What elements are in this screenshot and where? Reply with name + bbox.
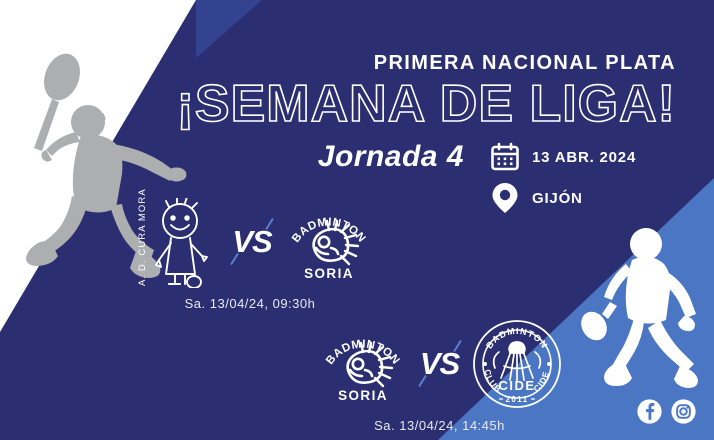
location-pin-icon	[490, 182, 520, 214]
match-2-teams: BADMINTON	[312, 318, 567, 410]
soria-wordmark: SORIA	[304, 266, 354, 281]
event-poster: PRIMERA NACIONAL PLATA ¡SEMANA DE LIGA! …	[0, 0, 714, 440]
calendar-icon	[490, 142, 520, 172]
event-location-row: GIJÓN	[490, 182, 583, 214]
facebook-icon[interactable]	[637, 399, 662, 424]
event-date-row: 13 ABR. 2024	[490, 142, 636, 172]
page-title: ¡SEMANA DE LIGA!	[0, 78, 676, 130]
event-city-text: GIJÓN	[532, 190, 583, 207]
matchday-label: Jornada 4	[0, 140, 464, 174]
badminton-soria-emblem-2: BADMINTON	[317, 324, 409, 404]
vs-separator-1: VS	[221, 214, 283, 270]
match-1-teams: A. D. CURA MORA	[125, 196, 375, 288]
vs-separator-2: VS	[409, 336, 471, 392]
match-2-time: Sa. 13/04/24, 14:45h	[312, 418, 567, 433]
cide-year-text: 2011	[505, 395, 528, 404]
instagram-icon[interactable]	[671, 399, 696, 424]
team-logo-cura-mora: A. D. CURA MORA	[125, 196, 221, 288]
event-date-text: 13 ABR. 2024	[532, 149, 636, 166]
team-logo-badminton-soria-2: BADMINTON	[317, 324, 409, 404]
cide-center-text: CIDE	[498, 378, 535, 393]
match-1-time: Sa. 13/04/24, 09:30h	[125, 296, 375, 311]
badminton-soria-emblem: BADMINTON	[283, 202, 375, 282]
badminton-player-lunge-icon	[580, 222, 710, 402]
league-kicker: PRIMERA NACIONAL PLATA	[0, 52, 676, 75]
match-card-1: A. D. CURA MORA	[125, 196, 375, 311]
team-logo-cide: BADMINTON CLUB CIDE	[471, 318, 563, 410]
match-card-2: BADMINTON	[312, 318, 567, 433]
soria-wordmark-2: SORIA	[338, 388, 388, 403]
social-links	[637, 399, 696, 424]
team-logo-badminton-soria: BADMINTON	[283, 202, 375, 282]
cide-crest-emblem: BADMINTON CLUB CIDE	[471, 318, 563, 410]
vs-label: VS	[221, 224, 283, 260]
vs-label-2: VS	[409, 346, 471, 382]
cura-mora-stickfigure-logo	[147, 198, 221, 288]
